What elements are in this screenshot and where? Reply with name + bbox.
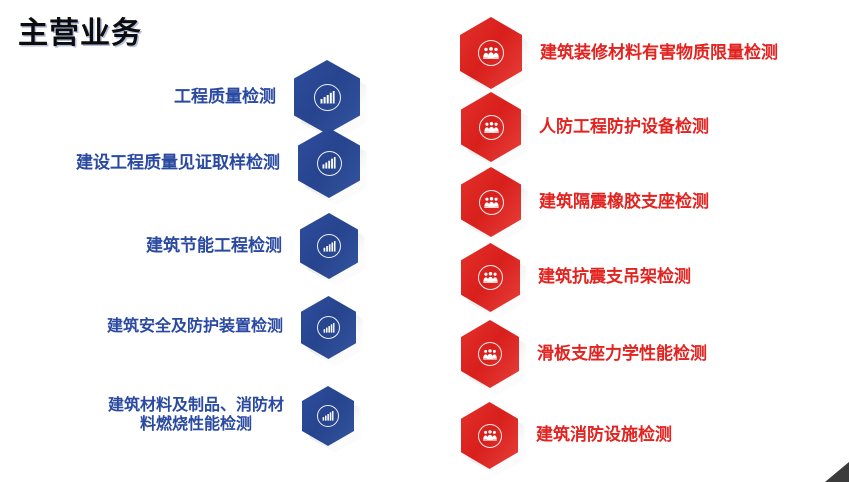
- hexagon-badge[interactable]: [461, 243, 520, 312]
- service-row-left-2[interactable]: 建设工程质量见证取样检测: [0, 128, 360, 198]
- service-label: 人防工程防护设备检测: [539, 117, 709, 137]
- people-group-icon: [479, 115, 504, 140]
- bar-chart-icon: [317, 316, 340, 339]
- service-row-left-4[interactable]: 建筑安全及防护装置检测: [0, 296, 356, 359]
- page-corner-marker: [825, 462, 849, 482]
- hexagon-badge[interactable]: [301, 296, 356, 359]
- hexagon-badge[interactable]: [294, 60, 360, 134]
- service-label: 建筑安全及防护装置检测: [107, 318, 283, 337]
- people-group-icon: [479, 190, 504, 215]
- service-label: 建设工程质量见证取样检测: [76, 153, 280, 173]
- bar-chart-icon: [314, 84, 341, 111]
- hexagon-badge[interactable]: [461, 167, 521, 237]
- service-row-right-3[interactable]: 建筑隔震橡胶支座检测: [461, 167, 709, 237]
- slide-canvas: 主营业务 工程质量检测 建设工程质量见证取样检测: [0, 0, 849, 482]
- bar-chart-icon: [317, 151, 342, 176]
- hexagon-badge[interactable]: [300, 213, 358, 279]
- service-label: 建筑抗震支吊架检测: [538, 267, 691, 287]
- service-row-right-6[interactable]: 建筑消防设施检测: [461, 402, 672, 469]
- hexagon-badge[interactable]: [298, 128, 360, 198]
- service-label: 建筑消防设施检测: [536, 425, 672, 445]
- people-group-icon: [478, 342, 502, 366]
- hexagon-badge[interactable]: [461, 92, 521, 162]
- service-row-right-2[interactable]: 人防工程防护设备检测: [461, 92, 709, 162]
- service-row-left-5[interactable]: 建筑材料及制品、消防材 料燃烧性能检测: [0, 386, 354, 446]
- page-title: 主营业务: [18, 8, 142, 52]
- people-group-icon: [478, 424, 502, 448]
- service-row-right-1[interactable]: 建筑装修材料有害物质限量检测: [460, 17, 778, 89]
- service-row-right-4[interactable]: 建筑抗震支吊架检测: [461, 243, 691, 312]
- bar-chart-icon: [317, 405, 339, 427]
- hexagon-badge[interactable]: [460, 17, 522, 89]
- hexagon-badge[interactable]: [461, 320, 519, 388]
- service-row-left-1[interactable]: 工程质量检测: [0, 60, 360, 134]
- service-label: 建筑节能工程检测: [146, 236, 282, 256]
- service-label: 建筑材料及制品、消防材 料燃烧性能检测: [108, 397, 284, 435]
- service-row-right-5[interactable]: 滑板支座力学性能检测: [461, 320, 707, 388]
- service-label: 建筑装修材料有害物质限量检测: [540, 43, 778, 63]
- service-row-left-3[interactable]: 建筑节能工程检测: [0, 213, 358, 279]
- service-label: 滑板支座力学性能检测: [537, 344, 707, 364]
- hexagon-badge[interactable]: [461, 402, 518, 469]
- hexagon-badge[interactable]: [302, 386, 354, 446]
- people-group-icon: [478, 40, 504, 66]
- people-group-icon: [478, 265, 503, 290]
- service-label: 工程质量检测: [174, 87, 276, 107]
- bar-chart-icon: [317, 234, 341, 258]
- service-label: 建筑隔震橡胶支座检测: [539, 192, 709, 212]
